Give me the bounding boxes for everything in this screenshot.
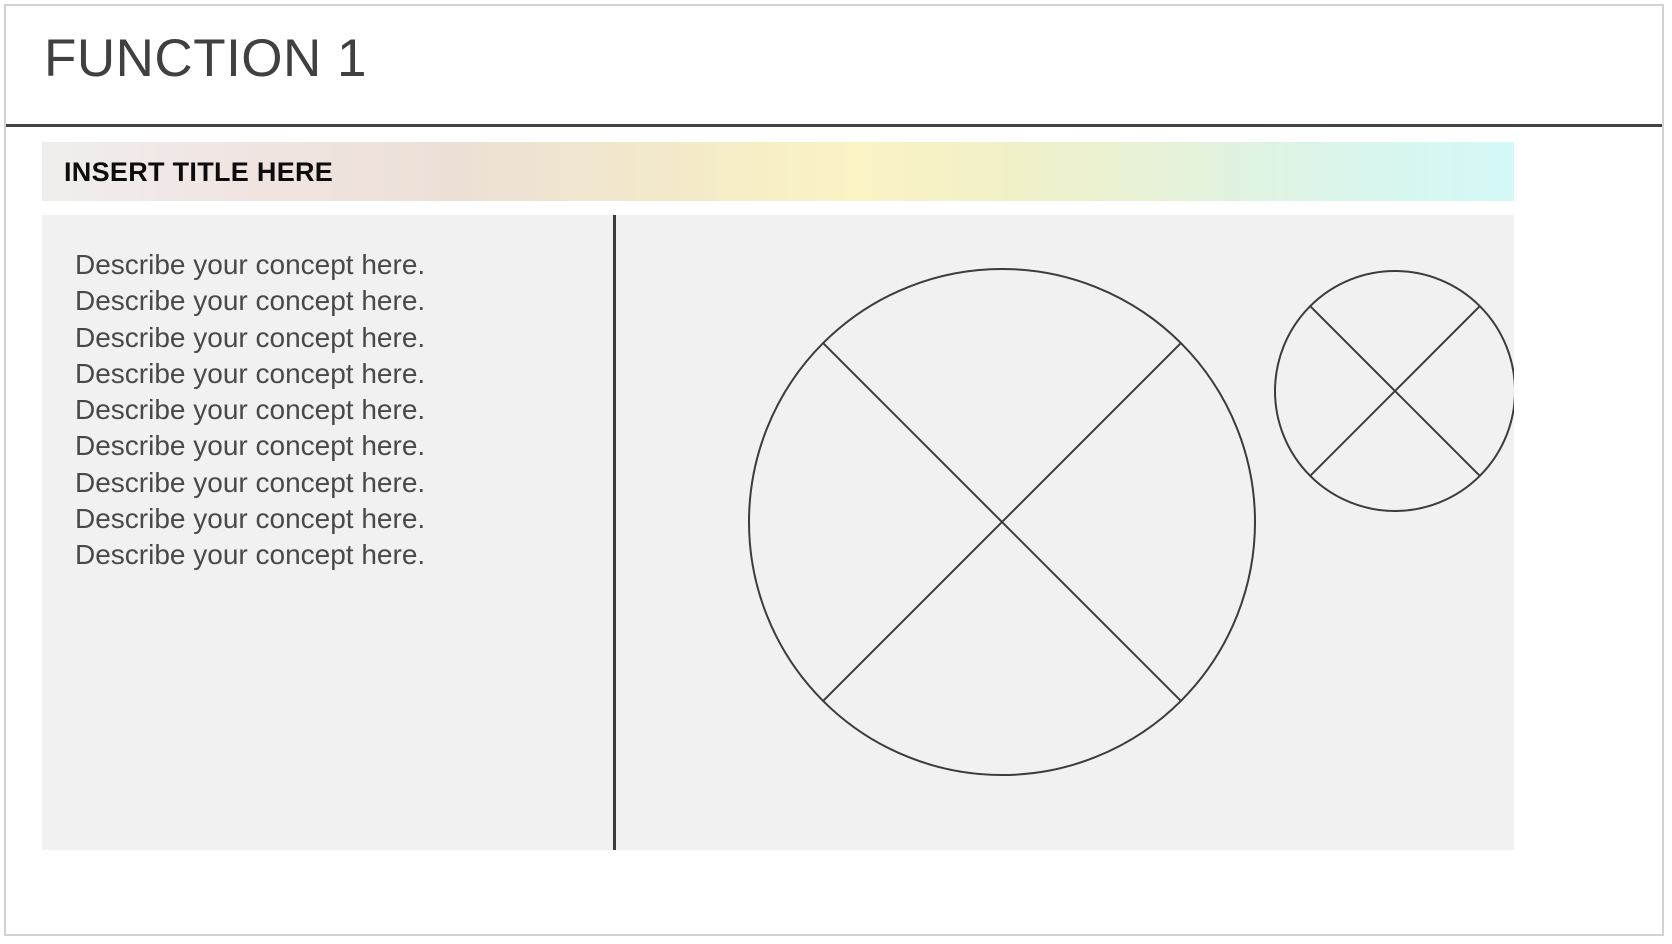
concept-line: Describe your concept here. [75,356,595,392]
content-panel: Describe your concept here. Describe you… [42,215,1514,850]
concept-line: Describe your concept here. [75,247,595,283]
concept-line: Describe your concept here. [75,465,595,501]
concept-line: Describe your concept here. [75,537,595,573]
gradient-title-banner: INSERT TITLE HERE [42,142,1514,201]
banner-title-text: INSERT TITLE HERE [64,156,333,188]
concept-line: Describe your concept here. [75,428,595,464]
concept-line: Describe your concept here. [75,320,595,356]
concept-line: Describe your concept here. [75,392,595,428]
small-image-placeholder[interactable] [1275,271,1514,511]
large-image-placeholder[interactable] [749,269,1255,775]
slide-header: FUNCTION 1 [6,6,1662,127]
concept-text-column: Describe your concept here. Describe you… [75,247,595,574]
concept-line: Describe your concept here. [75,283,595,319]
slide-canvas: FUNCTION 1 INSERT TITLE HERE Describe yo… [4,4,1664,936]
graphics-area [616,215,1514,850]
concept-line: Describe your concept here. [75,501,595,537]
page-title: FUNCTION 1 [44,28,367,90]
